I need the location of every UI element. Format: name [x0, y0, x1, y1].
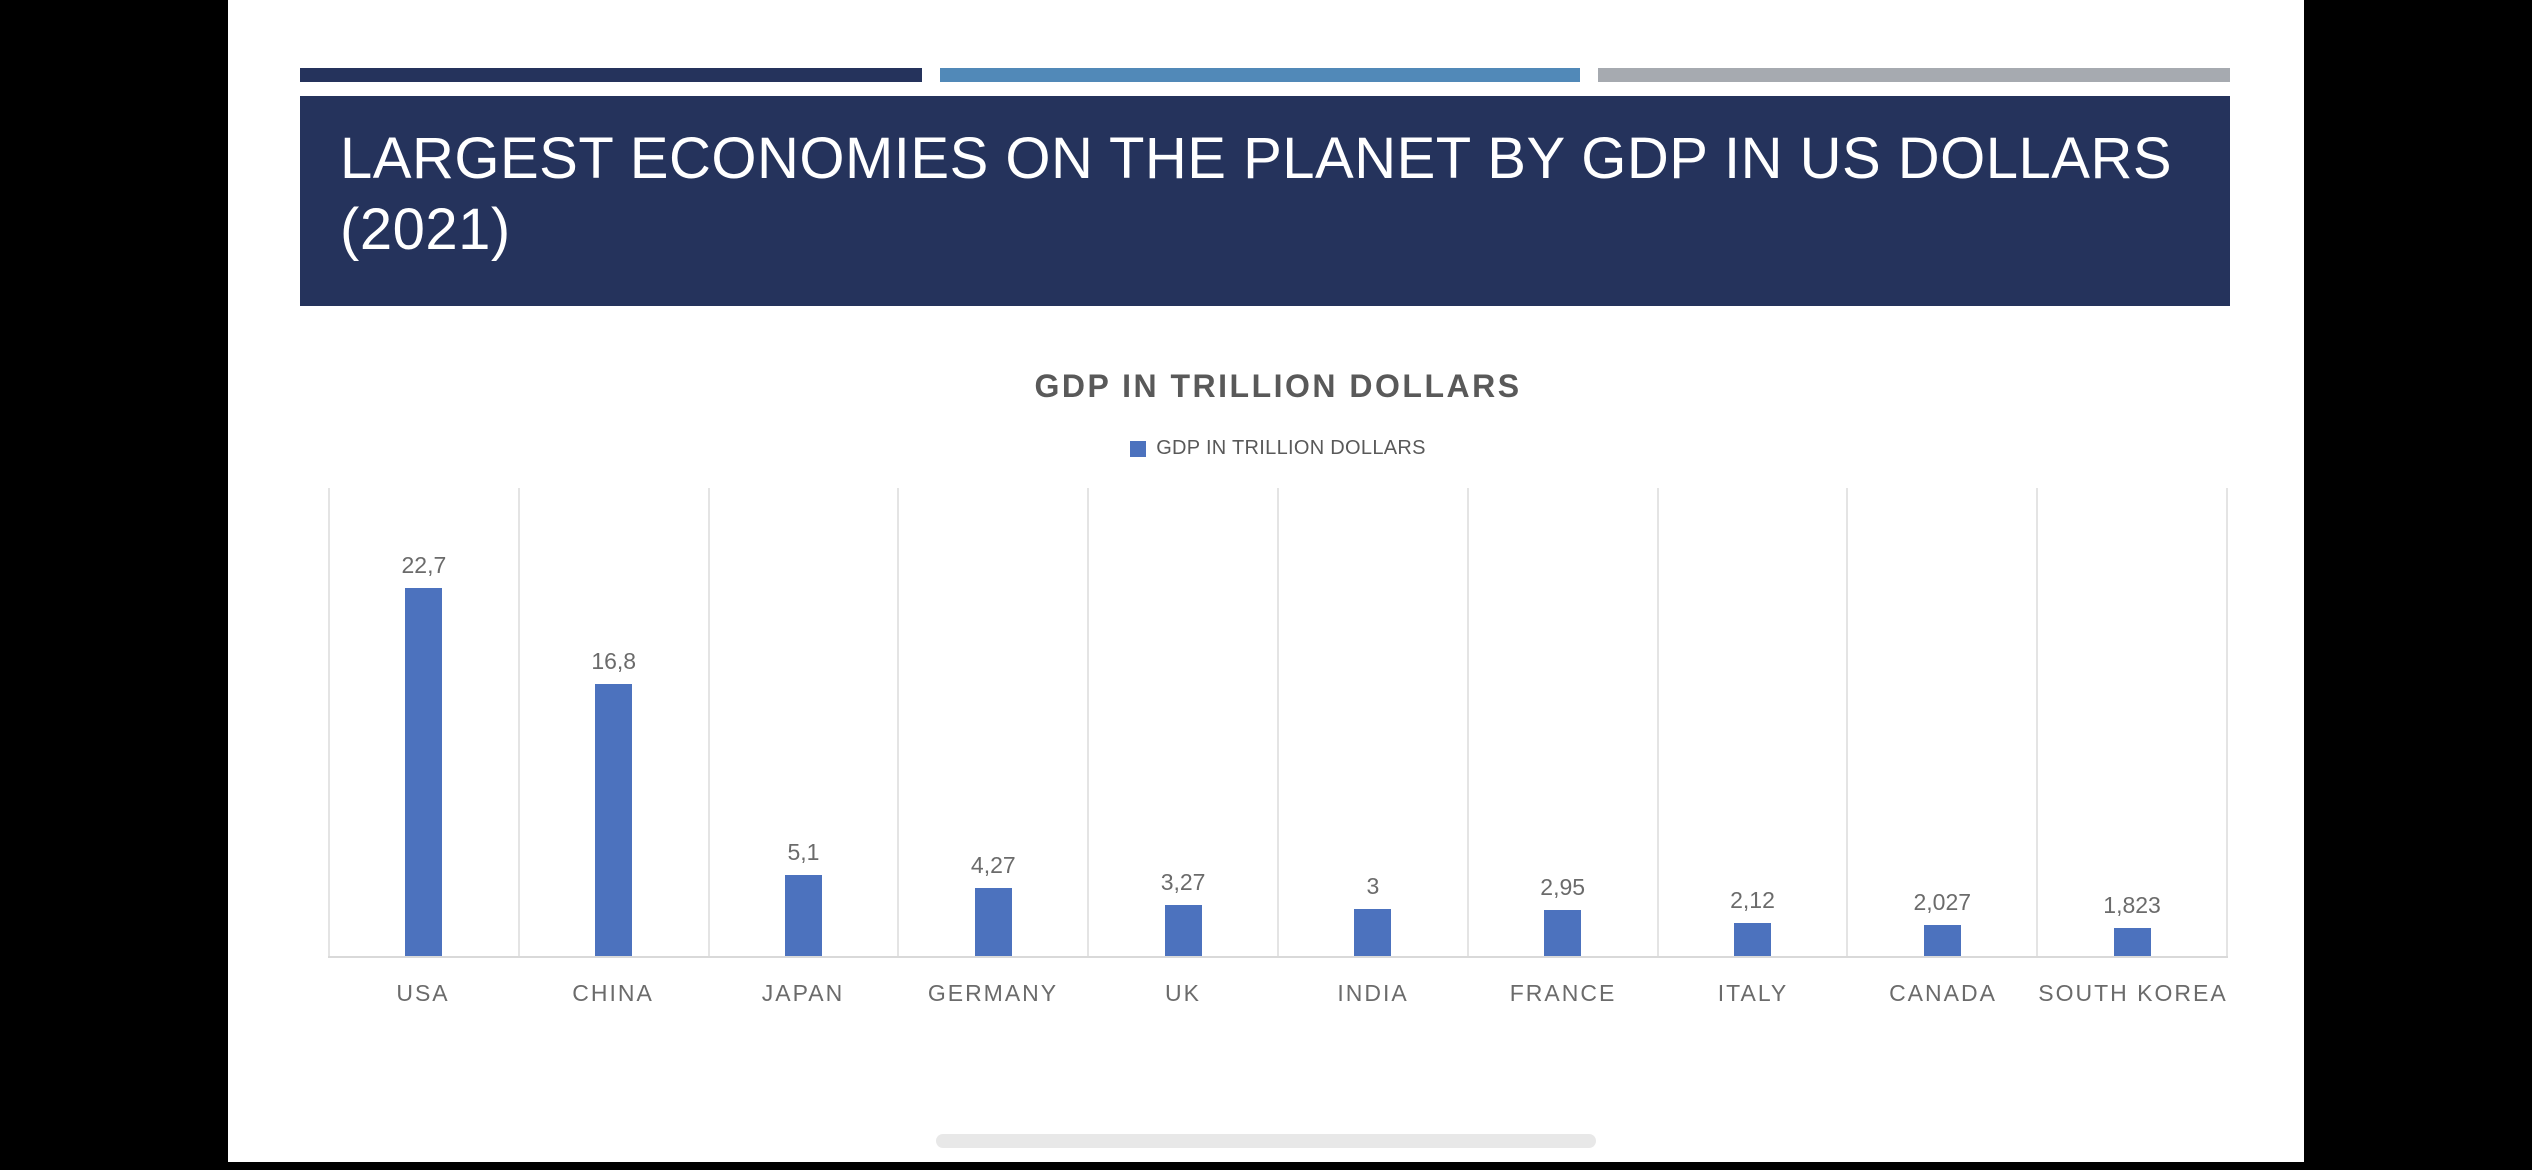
category-label: GERMANY [898, 980, 1088, 1007]
slide-title-line-2: (2021) [340, 195, 2190, 266]
chart-category-column: 1,823 [2036, 488, 2228, 958]
bar-value-label: 5,1 [788, 839, 820, 866]
bar-value-label: 2,95 [1540, 874, 1585, 901]
letterbox-bottom [0, 1162, 2532, 1170]
chart-category-column: 2,12 [1657, 488, 1847, 958]
chart-bar[interactable] [405, 588, 442, 958]
chart-category-column: 16,8 [518, 488, 708, 958]
legend-label: GDP IN TRILLION DOLLARS [1156, 437, 1426, 460]
chart-bar[interactable] [2114, 928, 2151, 958]
category-label: CANADA [1848, 980, 2038, 1007]
accent-bar-gray [1598, 68, 2230, 82]
category-label: CHINA [518, 980, 708, 1007]
chart-category-column: 22,7 [328, 488, 518, 958]
category-label: INDIA [1278, 980, 1468, 1007]
category-label: JAPAN [708, 980, 898, 1007]
bar-value-label: 2,12 [1730, 887, 1775, 914]
chart-bar[interactable] [1544, 910, 1581, 958]
slide-title-block: LARGEST ECONOMIES ON THE PLANET BY GDP I… [300, 96, 2230, 306]
category-label: UK [1088, 980, 1278, 1007]
slide-title-line-1: LARGEST ECONOMIES ON THE PLANET BY GDP I… [340, 124, 2190, 195]
category-axis-labels: USACHINAJAPANGERMANYUKINDIAFRANCEITALYCA… [328, 980, 2228, 1007]
chart-bar[interactable] [785, 875, 822, 958]
chart-category-column: 2,95 [1467, 488, 1657, 958]
legend-swatch-icon [1130, 441, 1146, 457]
chart-category-column: 4,27 [897, 488, 1087, 958]
accent-bar-row [300, 68, 2230, 82]
category-label: ITALY [1658, 980, 1848, 1007]
chart-bar[interactable] [1354, 909, 1391, 958]
category-label: SOUTH KOREA [2038, 980, 2228, 1007]
chart-bar[interactable] [1165, 905, 1202, 958]
bar-value-label: 4,27 [971, 852, 1016, 879]
chart-category-column: 3 [1277, 488, 1467, 958]
letterbox-right [2304, 0, 2532, 1170]
presentation-slide: LARGEST ECONOMIES ON THE PLANET BY GDP I… [228, 0, 2304, 1170]
category-label: FRANCE [1468, 980, 1658, 1007]
chart-plot-area: 22,716,85,14,273,2732,952,122,0271,823 [328, 488, 2228, 958]
chart-category-column: 5,1 [708, 488, 898, 958]
chart-bar[interactable] [1734, 923, 1771, 958]
chart-bar[interactable] [595, 684, 632, 958]
chart-title: GDP IN TRILLION DOLLARS [328, 368, 2228, 405]
bar-value-label: 1,823 [2103, 892, 2161, 919]
chart-legend: GDP IN TRILLION DOLLARS [328, 437, 2228, 460]
bar-value-label: 2,027 [1913, 889, 1971, 916]
category-label: USA [328, 980, 518, 1007]
chart-category-column: 3,27 [1087, 488, 1277, 958]
chart-bar[interactable] [975, 888, 1012, 958]
screenshot-viewport: LARGEST ECONOMIES ON THE PLANET BY GDP I… [0, 0, 2532, 1170]
bar-value-label: 22,7 [402, 552, 447, 579]
bar-chart: GDP IN TRILLION DOLLARS GDP IN TRILLION … [328, 350, 2228, 1070]
horizontal-scrollbar-thumb[interactable] [936, 1134, 1596, 1148]
accent-bar-blue [940, 68, 1580, 82]
chart-category-column: 2,027 [1846, 488, 2036, 958]
chart-bar[interactable] [1924, 925, 1961, 958]
bar-value-label: 3 [1366, 873, 1379, 900]
bar-value-label: 16,8 [591, 648, 636, 675]
letterbox-left [0, 0, 228, 1170]
accent-bar-navy [300, 68, 922, 82]
bar-value-label: 3,27 [1161, 869, 1206, 896]
